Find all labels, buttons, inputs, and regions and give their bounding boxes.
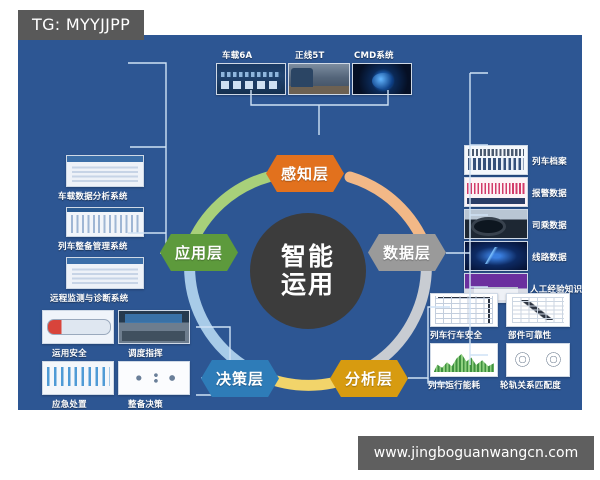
hex-application-layer[interactable]: 应用层 [160, 234, 238, 271]
screenshot-root: TG: MYYJJPP [0, 0, 600, 480]
center-title-line2: 运用 [281, 271, 335, 299]
hex-decision-layer[interactable]: 决策层 [201, 360, 279, 397]
watermark: www.jingboguanwangcn.com [358, 436, 594, 470]
hex-data-layer[interactable]: 数据层 [368, 234, 446, 271]
center-title-line1: 智能 [281, 243, 335, 271]
center-node: 智能 运用 [250, 213, 366, 329]
diagram-canvas: 智能 运用 感知层 应用层 数据层 决策层 分析层 车载6A 正线5T CMD系… [18, 35, 582, 410]
tg-badge: TG: MYYJJPP [18, 10, 144, 40]
hex-analysis-layer[interactable]: 分析层 [330, 360, 408, 397]
hex-sense-layer[interactable]: 感知层 [266, 155, 344, 192]
